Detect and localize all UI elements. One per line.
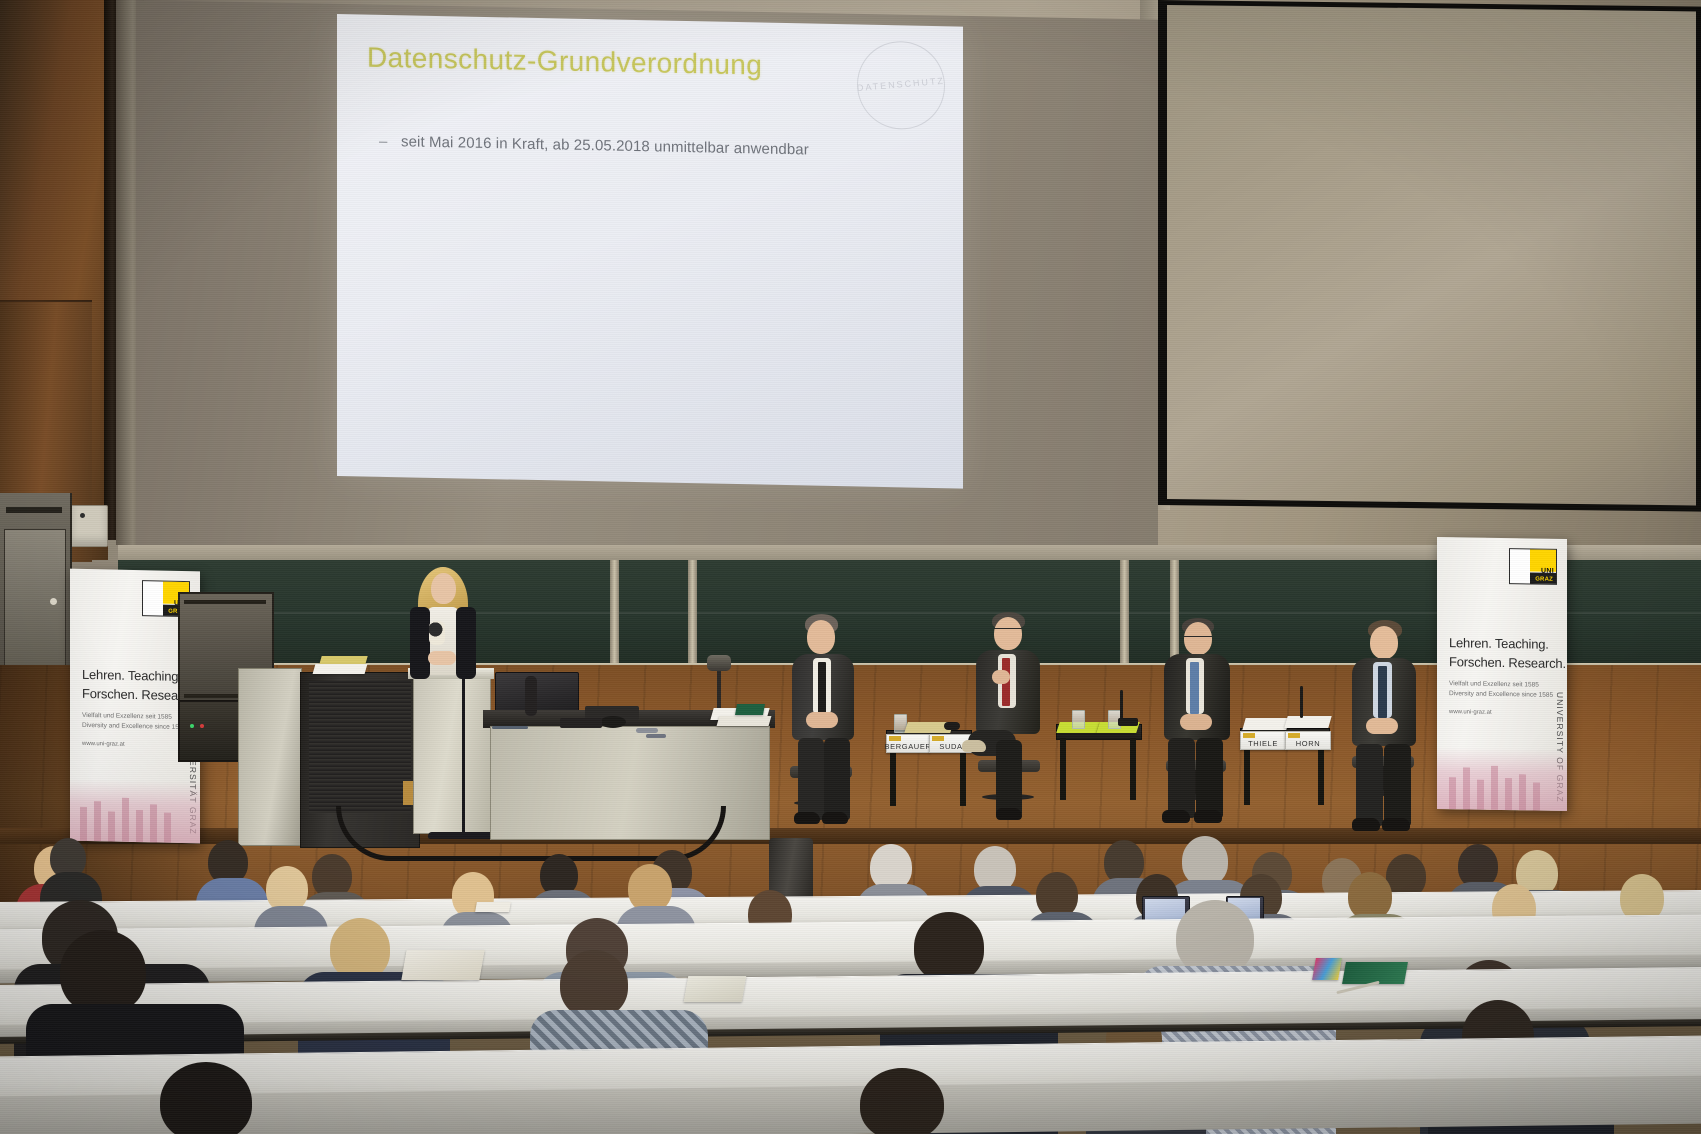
panelist-2 xyxy=(962,612,1057,830)
panelist-hand-raised xyxy=(992,670,1010,684)
nameplate-horn: HORN xyxy=(1285,731,1331,750)
chalkboard-divider xyxy=(1120,560,1129,673)
panelist-4 xyxy=(1340,620,1432,836)
panelist-leg xyxy=(1356,744,1383,826)
nameplate-bergauer: BERGAUER xyxy=(886,734,930,753)
chalkboard-divider xyxy=(610,560,619,673)
cabinet-door[interactable] xyxy=(4,529,66,681)
panelist-leg xyxy=(1168,738,1195,818)
slide-bullet-item: –seit Mai 2016 in Kraft, ab 25.05.2018 u… xyxy=(379,133,809,159)
pen[interactable] xyxy=(646,734,666,738)
slide-title: Datenschutz-Grundverordnung xyxy=(367,42,762,82)
panelist-hands xyxy=(1180,714,1212,730)
colorful-handout xyxy=(1312,958,1342,980)
podium-side-panel xyxy=(238,668,302,846)
panelist-shoe xyxy=(1162,810,1190,823)
panelist-leg xyxy=(1384,744,1411,826)
gooseneck-microphone-icon xyxy=(1300,686,1303,718)
banner-building-illustration xyxy=(1437,747,1567,811)
panelist-tie xyxy=(1378,666,1387,718)
vent-slit xyxy=(6,507,62,513)
paper-sheet xyxy=(1284,716,1331,728)
blouse-print xyxy=(429,621,445,645)
av-device xyxy=(560,718,602,728)
panelist-shoe xyxy=(996,808,1022,820)
paper-handout xyxy=(475,902,511,912)
panelist-leg xyxy=(996,740,1022,816)
green-brochure xyxy=(735,704,765,715)
presenter-head xyxy=(431,573,456,604)
panelist-head xyxy=(807,620,835,654)
panelist-hands xyxy=(806,712,838,728)
slide-bullet-text: seit Mai 2016 in Kraft, ab 25.05.2018 un… xyxy=(401,133,809,158)
paper-handout xyxy=(401,950,484,980)
panelist-leg xyxy=(824,738,850,820)
panelist-hands xyxy=(1366,718,1398,734)
banner-building-illustration xyxy=(70,779,200,844)
presenter-jacket-right xyxy=(456,607,476,679)
panelist-3 xyxy=(1152,618,1244,828)
logo-graz-text: GRAZ xyxy=(1535,577,1553,583)
banner-url: www.uni-graz.at xyxy=(1449,709,1492,716)
banner-headline-line1: Lehren. Teaching. xyxy=(82,667,182,684)
panelist-tie xyxy=(818,662,826,714)
panelist-shoe xyxy=(1382,818,1410,831)
banner-headline-line1: Lehren. Teaching. xyxy=(1449,635,1549,652)
panelist-head xyxy=(1370,626,1398,659)
desk-microphone-icon xyxy=(525,676,537,716)
pen[interactable] xyxy=(636,728,658,733)
nameplate-thiele: THIELE xyxy=(1240,731,1286,750)
glasses-icon xyxy=(994,628,1022,634)
panelist-leg xyxy=(798,738,824,820)
bullet-dash-icon: – xyxy=(379,133,401,150)
presenter-jacket-left xyxy=(410,607,430,679)
glasses-icon xyxy=(1184,636,1212,642)
banner-headline-line2: Forschen. Research. xyxy=(1449,654,1566,671)
camera-icon xyxy=(707,655,731,671)
projection-screen-main: Datenschutz-Grundverordnung –seit Mai 20… xyxy=(337,14,963,489)
paper-handout xyxy=(684,976,747,1002)
microphone-base xyxy=(1118,718,1138,726)
banner-sub-line2: Diversity and Excellence since 1585 xyxy=(82,721,186,733)
banner-url: www.uni-graz.at xyxy=(82,741,125,748)
water-glass xyxy=(1072,710,1085,729)
rollup-banner-right: UNI GRAZ Lehren. Teaching. Forschen. Res… xyxy=(1437,537,1567,811)
wall-control-panel[interactable] xyxy=(70,505,108,547)
paper-stack xyxy=(717,716,772,726)
paper-on-case xyxy=(313,664,368,674)
logo-uni-text: UNI xyxy=(1541,568,1554,575)
desk-microphone-icon xyxy=(944,722,960,730)
panelist-shoe xyxy=(1352,818,1380,831)
chalkboard-divider xyxy=(688,560,697,673)
panelist-shoe xyxy=(822,812,848,824)
projection-screen-right xyxy=(1167,5,1696,505)
panelist-shoe xyxy=(962,740,986,752)
cabinet-knob-icon[interactable] xyxy=(50,598,57,605)
presenter xyxy=(398,565,488,685)
panelist-1 xyxy=(780,614,870,829)
presenter-hands xyxy=(428,651,456,665)
lecture-hall-photo: Datenschutz-Grundverordnung –seit Mai 20… xyxy=(0,0,1701,1134)
led-strip-icon xyxy=(492,726,528,729)
panelist-tie xyxy=(1190,662,1199,714)
banner-sub-line2: Diversity and Excellence since 1585 xyxy=(1449,689,1553,701)
uni-graz-logo-icon: UNI GRAZ xyxy=(1509,548,1557,585)
paper-sheet xyxy=(1242,718,1289,730)
panelist-leg xyxy=(1196,738,1223,818)
panelist-shoe xyxy=(1194,810,1222,823)
cable-coil-icon xyxy=(600,716,626,728)
datenschutz-watermark-icon: DATENSCHUTZ xyxy=(853,38,950,133)
panelist-shoe xyxy=(794,812,820,824)
